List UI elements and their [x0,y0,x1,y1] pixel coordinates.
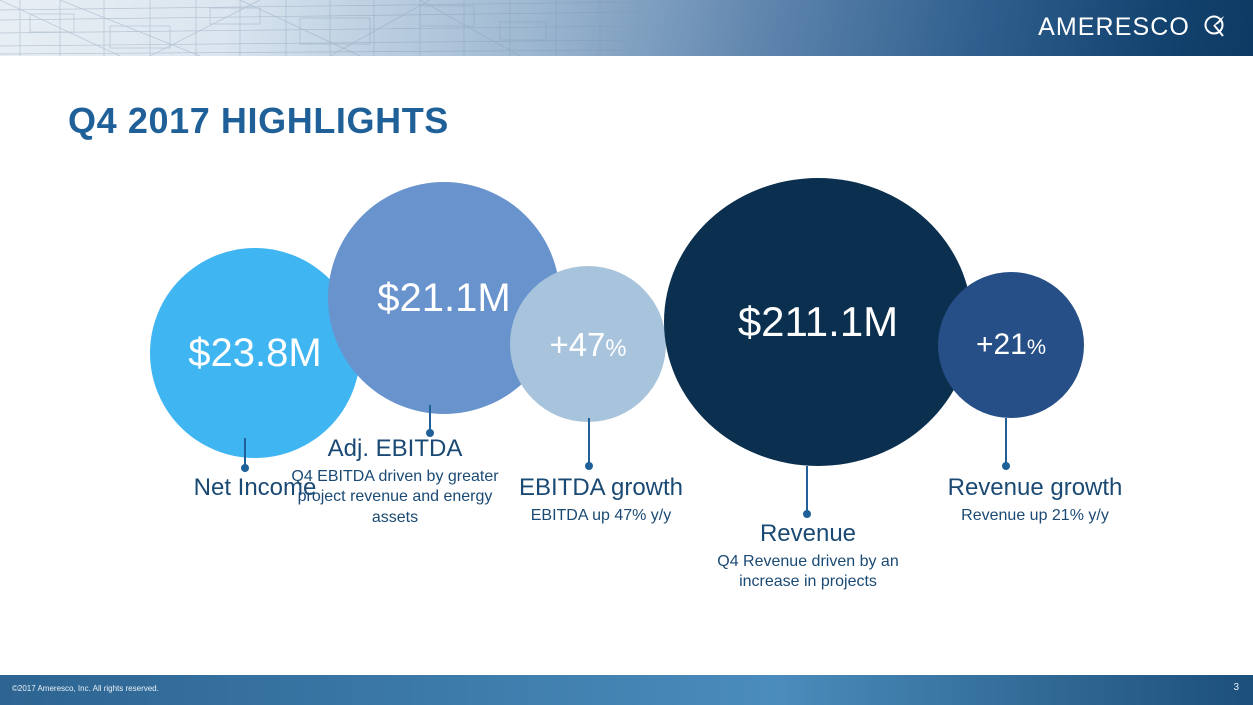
metric-value-revenue: $211.1M [738,301,898,343]
slide-footer: ©2017 Ameresco, Inc. All rights reserved… [0,675,1253,705]
ameresco-logo: AMERESCO [1038,13,1225,42]
metric-label-ebitda-growth: EBITDA growth [496,474,706,502]
copyright-text: ©2017 Ameresco, Inc. All rights reserved… [12,684,159,693]
ameresco-leaf-mark [1203,15,1225,44]
connector-dot-net-income [241,464,249,472]
metric-label-block-adj-ebitda: Adj. EBITDA Q4 EBITDA driven by greater … [290,435,500,529]
page-number: 3 [1233,682,1239,693]
metric-label-block-revenue-growth: Revenue growth Revenue up 21% y/y [920,474,1150,526]
metric-label-adj-ebitda: Adj. EBITDA [290,435,500,463]
slide-header: AMERESCO [0,0,1253,56]
metric-value-number: +47 [549,326,605,363]
metric-label-block-ebitda-growth: EBITDA growth EBITDA up 47% y/y [496,474,706,526]
metric-note-revenue-growth: Revenue up 21% y/y [920,506,1150,527]
metric-label-revenue: Revenue [690,520,926,548]
connector-dot-revenue [803,510,811,518]
metric-value-net-income: $23.8M [188,333,321,373]
metric-note-adj-ebitda: Q4 EBITDA driven by greater project reve… [290,467,500,529]
metric-value-unit: % [1027,334,1046,359]
metric-value-number: +21 [976,328,1027,361]
metric-value-unit: % [605,335,626,362]
metric-value-adj-ebitda: $21.1M [377,278,510,318]
connector-dot-ebitda-growth [585,462,593,470]
metric-value-ebitda-growth: +47% [549,328,626,361]
connector-line-revenue [806,466,808,514]
metric-bubble-revenue-growth: +21% [938,272,1084,418]
connector-dot-revenue-growth [1002,462,1010,470]
connector-line-ebitda-growth [588,418,590,466]
blueprint-graphic [0,0,640,56]
metric-note-revenue: Q4 Revenue driven by an increase in proj… [690,552,926,594]
connector-line-revenue-growth [1005,418,1007,466]
page-title: Q4 2017 HIGHLIGHTS [68,100,449,142]
logo-text: AMERESCO [1038,13,1190,41]
metric-bubble-revenue: $211.1M [664,178,972,466]
metric-value-revenue-growth: +21% [976,330,1046,360]
metric-bubble-ebitda-growth: +47% [510,266,666,422]
metric-label-revenue-growth: Revenue growth [920,474,1150,502]
metric-label-block-revenue: Revenue Q4 Revenue driven by an increase… [690,520,926,593]
metric-note-ebitda-growth: EBITDA up 47% y/y [496,506,706,527]
